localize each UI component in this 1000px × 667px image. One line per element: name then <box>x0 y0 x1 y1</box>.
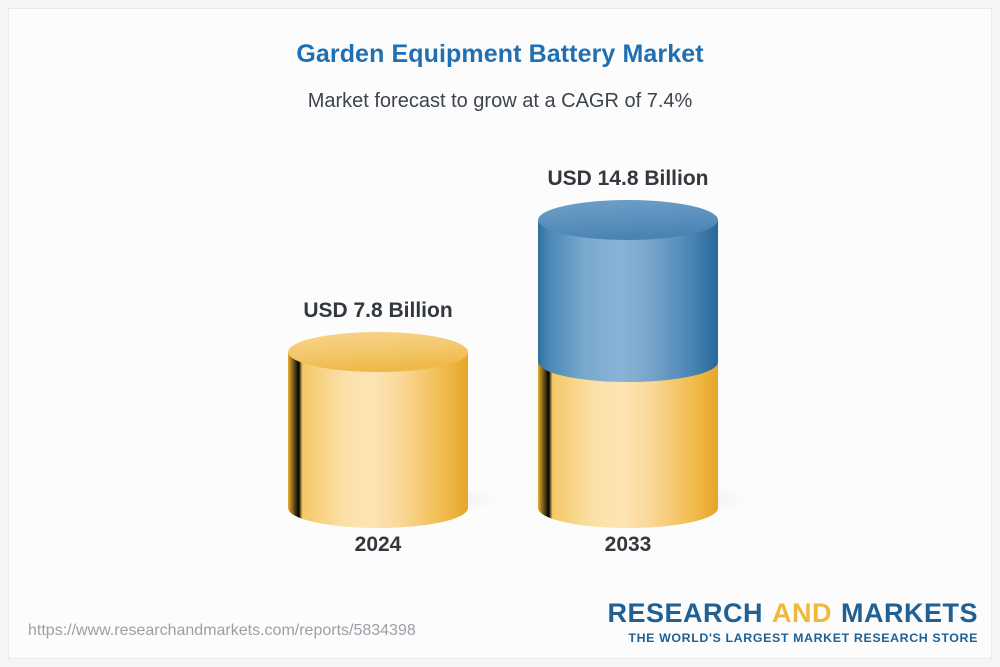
brand-logo[interactable]: RESEARCHANDMARKETS THE WORLD'S LARGEST M… <box>607 600 978 644</box>
brand-tagline: THE WORLD'S LARGEST MARKET RESEARCH STOR… <box>607 632 978 644</box>
bar-2024[interactable] <box>282 332 498 528</box>
bar-2024-body <box>288 352 468 528</box>
bar-2024-top <box>288 332 468 372</box>
bar-2033-segment-growth <box>538 220 718 382</box>
brand-logo-wordmark: RESEARCHANDMARKETS <box>607 600 978 627</box>
bar-2033-segment-base <box>538 362 718 528</box>
chart-canvas: Garden Equipment Battery Market Market f… <box>0 0 1000 667</box>
bar-chart-plot <box>0 0 1000 667</box>
brand-word-research: RESEARCH <box>607 598 763 628</box>
category-label-2024: 2024 <box>288 533 468 557</box>
category-label-2033: 2033 <box>538 533 718 557</box>
report-url[interactable]: https://www.researchandmarkets.com/repor… <box>28 622 416 640</box>
bar-2033-top <box>538 200 718 240</box>
value-label-2033: USD 14.8 Billion <box>528 167 728 191</box>
brand-word-and: AND <box>772 598 832 628</box>
value-label-2024: USD 7.8 Billion <box>288 299 468 323</box>
brand-word-markets: MARKETS <box>841 598 978 628</box>
bar-2033[interactable] <box>532 200 748 528</box>
